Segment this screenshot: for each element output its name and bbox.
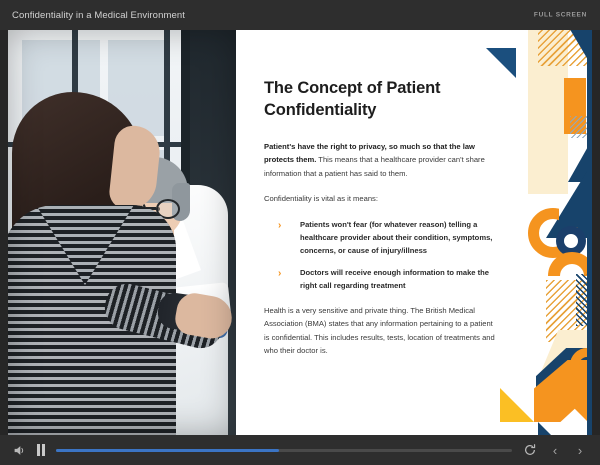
- player-controls: ‹ ›: [0, 435, 600, 465]
- intro-paragraph: Patient's have the right to privacy, so …: [264, 140, 496, 181]
- progress-scrubber[interactable]: [56, 449, 513, 452]
- pause-bar: [42, 444, 45, 456]
- list-item-label: Patients won't fear (for whatever reason…: [300, 220, 492, 255]
- chevron-right-icon: ›: [278, 217, 281, 234]
- slide-photo: [8, 30, 236, 435]
- next-slide-button[interactable]: ›: [573, 443, 587, 457]
- previous-slide-button[interactable]: ‹: [548, 443, 562, 457]
- decorative-graphic: [484, 30, 592, 435]
- lead-in-text: Confidentiality is vital as it means:: [264, 192, 496, 206]
- chevron-right-icon: ›: [278, 265, 281, 282]
- pause-bar: [37, 444, 40, 456]
- replay-icon[interactable]: [523, 443, 537, 457]
- fullscreen-button[interactable]: FULL SCREEN: [534, 12, 587, 19]
- navy-edge-bar: [587, 30, 592, 435]
- yellow-triangle-shape: [500, 388, 534, 422]
- orange-triangle-shape: [560, 394, 590, 424]
- slide-content: The Concept of Patient Confidentiality P…: [236, 30, 592, 435]
- progress-fill: [56, 449, 280, 452]
- closing-paragraph: Health is a very sensitive and private t…: [264, 304, 496, 358]
- pause-button[interactable]: [37, 444, 45, 456]
- player-topbar: Confidentiality in a Medical Environment…: [0, 0, 600, 30]
- list-item: › Patients won't fear (for whatever reas…: [278, 218, 500, 257]
- list-item: › Doctors will receive enough informatio…: [278, 266, 500, 292]
- benefits-list: › Patients won't fear (for whatever reas…: [278, 218, 500, 292]
- course-title: Confidentiality in a Medical Environment: [12, 10, 185, 21]
- course-player: Confidentiality in a Medical Environment…: [0, 0, 600, 465]
- slide-heading: The Concept of Patient Confidentiality: [264, 78, 474, 122]
- volume-icon[interactable]: [13, 444, 26, 457]
- photo-vignette: [8, 30, 236, 435]
- navy-ring-shape: [556, 226, 586, 256]
- slide-stage: The Concept of Patient Confidentiality P…: [8, 30, 592, 435]
- list-item-label: Doctors will receive enough information …: [300, 268, 489, 290]
- navy-triangle-shape: [486, 48, 516, 78]
